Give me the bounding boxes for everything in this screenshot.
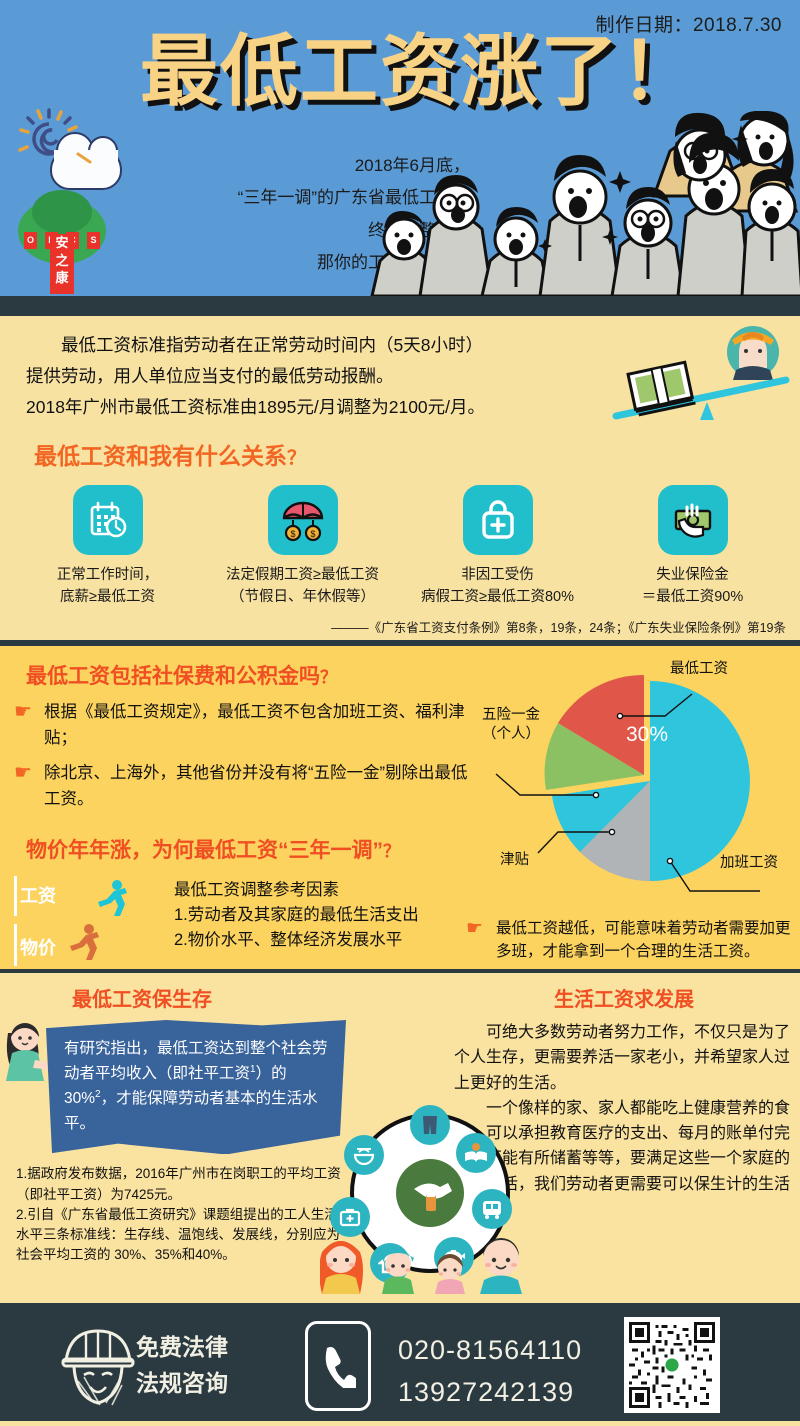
pie-slice-overtime (650, 681, 750, 881)
crowd-illustration (370, 111, 800, 296)
service-line-1: 免费法律 (136, 1330, 228, 1366)
benefit-caption-line: ＝最低工资90% (595, 587, 790, 609)
balance-scale-illustration (610, 324, 790, 424)
pie-label-insurance-line1: 五险一金 (482, 706, 540, 725)
svg-text:$: $ (290, 529, 295, 539)
qr-code-icon (624, 1317, 720, 1413)
logo-trunk-text: 安之康 (50, 234, 74, 287)
price-heading: 物价年年涨，为何最低工资“三年一调”？ (26, 834, 470, 864)
factors-block: 最低工资调整参考因素 1.劳动者及其家庭的最低生活支出 2.物价水平、整体经济发… (174, 878, 419, 953)
svg-text:$: $ (310, 529, 315, 539)
benefit-caption-line: 非因工受伤 (400, 565, 595, 587)
benefit-caption: 正常工作时间， 底薪≥最低工资 (10, 565, 205, 609)
family-member-son (382, 1250, 414, 1294)
benefit-card: 非因工受伤 病假工资≥最低工资80% (400, 485, 595, 609)
pie-note-text: 最低工资越低，可能意味着劳动者需要加更多班，才能拿到一个合理的生活工资。 (496, 917, 796, 964)
benefit-caption-line: 病假工资≥最低工资80% (400, 587, 595, 609)
benefit-card: 失业保险金 ＝最低工资90% (595, 485, 790, 609)
phone-numbers: 020-81564110 13927242139 (398, 1330, 582, 1414)
factor-item: 1.劳动者及其家庭的最低生活支出 (174, 903, 419, 928)
benefit-caption-line: 法定假期工资≥最低工资 (205, 565, 400, 587)
benefit-caption-line: （节假日、年休假等） (205, 587, 400, 609)
speech-suffix: ，才能保障劳动者基本的生活水平。 (64, 1090, 318, 1132)
runner-icon (64, 922, 104, 962)
tree-canopy-top (32, 190, 92, 234)
rice-bowl-icon (344, 1135, 384, 1175)
wage-price-compare: 工资 物价 最低工资调整参考因素 1.劳动者及其家庭的最低生活支出 2.物价水平… (6, 876, 470, 968)
infographic-page: 制作日期：2018.7.30 最低工资涨了！ 2018年6月底， “三年一调”的… (0, 0, 800, 1416)
benefit-caption-line: 正常工作时间， (10, 565, 205, 587)
price-bar (14, 924, 17, 966)
family-member-mother (320, 1241, 363, 1294)
benefit-cards: 正常工作时间， 底薪≥最低工资 $ $ (10, 485, 790, 609)
cash-hand-icon (658, 485, 728, 555)
pants-icon (410, 1105, 450, 1145)
social-insurance-section: 最低工资包括社保费和公积金吗？ ☛ 根据《最低工资规定》，最低工资不包含加班工资… (0, 646, 800, 969)
pie-label-insurance-line2: （个人） (482, 725, 540, 744)
cloud-eye-icon (76, 152, 98, 166)
social-bullet-text: 除北京、上海外，其他省份并没有将“五险一金”剔除出最低工资。 (44, 761, 470, 812)
development-title: 生活工资求发展 (454, 983, 794, 1012)
company-logo: O H C S 安之康 (14, 198, 110, 294)
wage-bar (14, 876, 17, 916)
footnote-item: 1.据政府发布数据，2016年广州市在岗职工的平均工资（即社平工资）为7425元… (16, 1164, 346, 1205)
pointing-hand-icon: ☛ (14, 761, 44, 812)
social-heading: 最低工资包括社保费和公积金吗？ (26, 660, 470, 690)
logo-trunk: 安之康 (50, 234, 74, 294)
phone-number: 020-81564110 (398, 1330, 582, 1372)
social-heading-text: 最低工资包括社保费和公积金吗 (26, 665, 320, 688)
pie-label-minimum-wage: 最低工资 (670, 660, 728, 679)
first-aid-kit-icon (463, 485, 533, 555)
benefit-caption: 法定假期工资≥最低工资 （节假日、年休假等） (205, 565, 400, 609)
service-line-2: 法规咨询 (136, 1366, 228, 1402)
price-heading-text: 物价年年涨，为何最低工资“三年一调” (26, 839, 383, 862)
social-heading-qmark: ？ (320, 668, 337, 687)
runner-icon (92, 878, 132, 918)
relation-heading: 最低工资和我有什么关系？ (34, 437, 800, 471)
family-illustration (320, 1232, 580, 1294)
book-reader-icon (456, 1133, 496, 1173)
benefit-caption: 非因工受伤 病假工资≥最低工资80% (400, 565, 595, 609)
speech-prefix: 有研究指出，最低工资达到整个社会劳动者平均收入（即社平工资 (64, 1040, 328, 1082)
logo-letter: S (87, 232, 100, 249)
bus-icon (472, 1189, 512, 1229)
social-bullet: ☛ 根据《最低工资规定》，最低工资不包含加班工资、福利津贴； (14, 700, 470, 751)
benefit-card: 正常工作时间， 底薪≥最低工资 (10, 485, 205, 609)
pointing-hand-icon: ☛ (14, 700, 44, 751)
phone-icon (305, 1321, 371, 1411)
relation-heading-qmark: ？ (287, 448, 306, 469)
footnotes: 1.据政府发布数据，2016年广州市在岗职工的平均工资（即社平工资）为7425元… (16, 1164, 346, 1265)
pie-label-overtime: 加班工资 (720, 854, 778, 873)
survival-title: 最低工资保生存 (72, 983, 420, 1012)
worker-helmet-icon (58, 1323, 138, 1409)
logo-letter: O (24, 232, 37, 249)
pie-data-label: 30% (626, 723, 668, 746)
law-citation: ———《广东省工资支付条例》第8条，19条，24条；《广东失业保险条例》第19条 (0, 617, 786, 636)
wage-label: 工资 (20, 882, 56, 908)
footnote-item: 2.引自《广东省最低工资研究》课题组提出的工人生活水平三条标准线：生存线、温饱线… (16, 1205, 346, 1266)
calendar-clock-icon (73, 485, 143, 555)
page-title: 最低工资涨了！ (140, 32, 780, 110)
benefit-caption-line: 底薪≥最低工资 (10, 587, 205, 609)
family-member-father (480, 1238, 522, 1294)
pie-label-allowance: 津贴 (500, 851, 529, 870)
family-member-daughter (435, 1254, 465, 1294)
footer-accent-line (0, 1421, 800, 1426)
price-label: 物价 (20, 934, 56, 960)
social-bullet-text: 根据《最低工资规定》，最低工资不包含加班工资、福利津贴； (44, 700, 470, 751)
factors-title: 最低工资调整参考因素 (174, 878, 419, 903)
price-heading-qmark: ？ (383, 842, 400, 861)
pie-chart-block: 30% 最低工资 五险一金 （个人） 津贴 加班工资 (460, 646, 800, 969)
umbrella-coins-icon: $ $ (268, 485, 338, 555)
social-left-column: 最低工资包括社保费和公积金吗？ ☛ 根据《最低工资规定》，最低工资不包含加班工资… (0, 646, 470, 968)
definition-section: 最低工资标准指劳动者在正常劳动时间内（5天8小时） 提供劳动，用人单位应当支付的… (0, 316, 800, 640)
relation-heading-text: 最低工资和我有什么关系 (34, 443, 287, 469)
pie-label-insurance: 五险一金 （个人） (482, 706, 540, 744)
hand-money-icon (396, 1159, 464, 1227)
divider-1 (0, 296, 800, 316)
research-speech-bubble: 有研究指出，最低工资达到整个社会劳动者平均收入（即社平工资1）的30%2，才能保… (46, 1020, 346, 1154)
pie-note: ☛ 最低工资越低，可能意味着劳动者需要加更多班，才能拿到一个合理的生活工资。 (466, 917, 796, 964)
pointing-hand-icon: ☛ (466, 917, 496, 964)
medical-kit-icon (330, 1197, 370, 1237)
social-bullet: ☛ 除北京、上海外，其他省份并没有将“五险一金”剔除出最低工资。 (14, 761, 470, 812)
hero-section: 制作日期：2018.7.30 最低工资涨了！ 2018年6月底， “三年一调”的… (0, 0, 800, 296)
benefit-card: $ $ 法定假期工资≥最低工资 （节假日、年休假等） (205, 485, 400, 609)
factor-item: 2.物价水平、整体经济发展水平 (174, 928, 419, 953)
development-paragraph: 可绝大多数劳动者努力工作，不仅只是为了个人生存，更需要养活一家老小，并希望家人过… (454, 1020, 794, 1096)
phone-number: 13927242139 (398, 1372, 582, 1414)
footer-section: 免费法律 法规咨询 020-81564110 13927242139 (0, 1303, 800, 1426)
benefit-caption: 失业保险金 ＝最低工资90% (595, 565, 790, 609)
benefit-caption-line: 失业保险金 (595, 565, 790, 587)
free-legal-service-text: 免费法律 法规咨询 (136, 1330, 228, 1401)
